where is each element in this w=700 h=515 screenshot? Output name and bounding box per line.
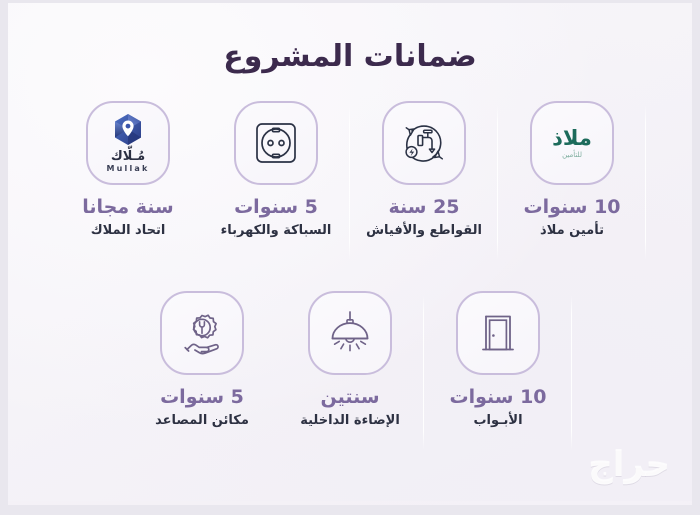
warranty-card-malath-insurance[interactable]: ملاذ للتأمين 10 سنوات تأمين ملاذ [498, 101, 646, 239]
warranty-label: القواطع والأفياش [366, 224, 482, 239]
warranty-card-plumbing-electricity[interactable]: 5 سنوات السباكة والكهرباء [202, 101, 350, 239]
malath-logo-icon: ملاذ للتأمين [552, 128, 592, 159]
frame-edge-bottom [0, 505, 700, 515]
warranty-label: السباكة والكهرباء [221, 224, 332, 239]
pendant-lamp-icon [324, 307, 376, 359]
icon-container [382, 101, 466, 185]
warranty-card-interior-lighting[interactable]: سنتين الإضاءة الداخلية [276, 291, 424, 429]
icon-container [456, 291, 540, 375]
page-title: ضمانات المشروع [8, 39, 692, 74]
frame-edge-right [692, 0, 700, 515]
mullak-logo-latin: Mullak [106, 165, 149, 173]
warranty-duration: 10 سنوات [523, 197, 620, 219]
warranty-label: اتحاد الملاك [91, 224, 166, 239]
infographic-canvas: ضمانات المشروع [8, 3, 692, 501]
warranty-duration: سنة مجانا [82, 197, 173, 219]
warranty-duration: 5 سنوات [160, 387, 244, 409]
icon-container: ملاذ للتأمين [530, 101, 614, 185]
malath-logo-arabic: ملاذ [552, 128, 592, 149]
warranty-duration: 10 سنوات [449, 387, 546, 409]
warranty-duration: سنتين [320, 387, 379, 409]
warranty-row-1: مُـلّاك Mullak سنة مجانا اتحاد الملاك [8, 101, 692, 239]
warranty-row-2: 5 سنوات مكائن المصاعد [8, 291, 692, 429]
hand-gear-wrench-icon [177, 308, 227, 358]
warranty-label: مكائن المصاعد [155, 414, 249, 429]
icon-container [308, 291, 392, 375]
warranty-card-breakers-outlets[interactable]: 25 سنة القواطع والأفياش [350, 101, 498, 239]
warranty-label: الإضاءة الداخلية [300, 414, 400, 429]
warranty-card-elevator-machines[interactable]: 5 سنوات مكائن المصاعد [128, 291, 276, 429]
frame-edge-left [0, 0, 8, 515]
warranty-label: تأمين ملاذ [540, 224, 604, 239]
warranty-duration: 5 سنوات [234, 197, 318, 219]
warranty-card-mullak[interactable]: مُـلّاك Mullak سنة مجانا اتحاد الملاك [54, 101, 202, 239]
warranty-duration: 25 سنة [388, 197, 459, 219]
warranty-label: الأبـواب [473, 414, 522, 429]
malath-logo-subtext: للتأمين [562, 152, 582, 159]
icon-container [160, 291, 244, 375]
faucet-recycle-icon [398, 117, 450, 169]
slide-root: ضمانات المشروع [0, 0, 700, 515]
mullak-logo-icon: مُـلّاك Mullak [106, 113, 149, 173]
door-icon [473, 308, 523, 358]
icon-container: مُـلّاك Mullak [86, 101, 170, 185]
power-socket-icon [251, 118, 301, 168]
watermark-haraj: حراج [588, 445, 670, 485]
icon-container [234, 101, 318, 185]
warranty-card-doors[interactable]: 10 سنوات الأبـواب [424, 291, 572, 429]
mullak-logo-arabic: مُـلّاك [111, 150, 145, 163]
